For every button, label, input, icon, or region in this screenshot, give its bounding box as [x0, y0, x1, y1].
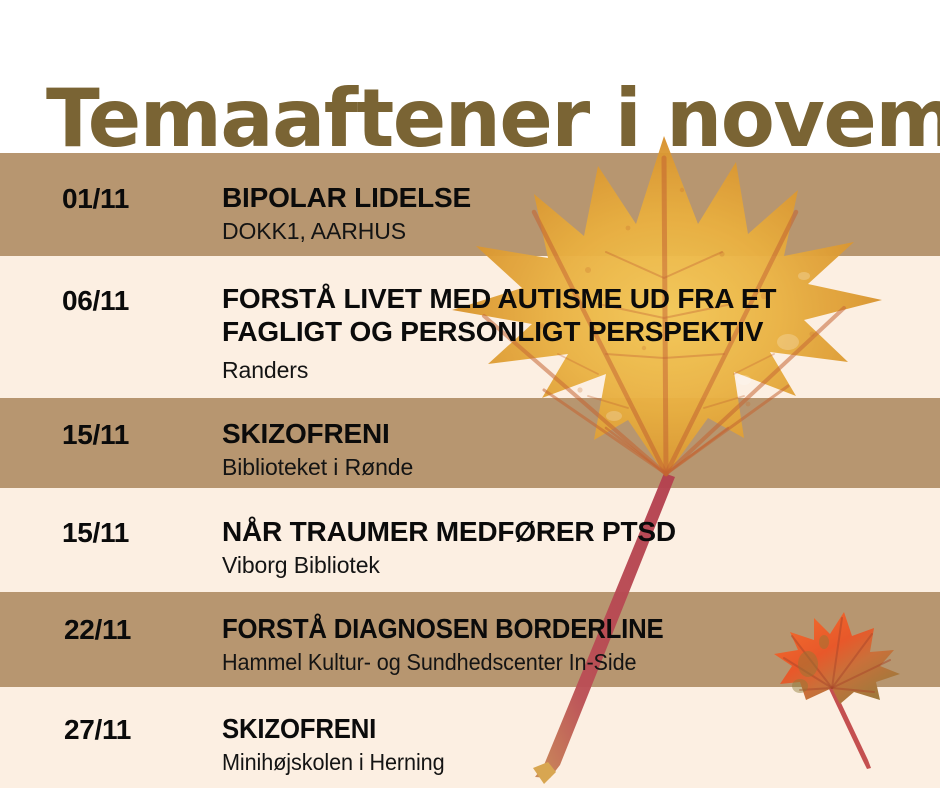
event-date: 06/11	[62, 286, 129, 316]
event-date: 22/11	[64, 615, 131, 645]
event-venue: Hammel Kultur- og Sundhedscenter In-Side	[222, 648, 880, 676]
list-item[interactable]: 15/11 SKIZOFRENI Biblioteket i Rønde	[0, 398, 940, 488]
event-date: 15/11	[62, 518, 129, 548]
event-venue: Biblioteket i Rønde	[222, 453, 922, 481]
event-date: 15/11	[62, 420, 129, 450]
event-title: NÅR TRAUMER MEDFØRER PTSD	[222, 515, 922, 548]
list-item[interactable]: 15/11 NÅR TRAUMER MEDFØRER PTSD Viborg B…	[0, 488, 940, 592]
event-title: SKIZOFRENI	[222, 417, 922, 450]
event-date: 27/11	[64, 715, 131, 745]
event-title: FORSTÅ LIVET MED AUTISME UD FRA ET FAGLI…	[222, 282, 922, 348]
event-title: FORSTÅ DIAGNOSEN BORDERLINE	[222, 612, 866, 645]
event-title: BIPOLAR LIDELSE	[222, 181, 922, 214]
list-item[interactable]: 22/11 FORSTÅ DIAGNOSEN BORDERLINE Hammel…	[0, 592, 940, 687]
content-layer: Temaaftener i november 01/11 BIPOLAR LID…	[0, 0, 940, 788]
event-venue: DOKK1, AARHUS	[222, 217, 922, 245]
page-title: Temaaftener i november	[46, 76, 893, 162]
event-title: SKIZOFRENI	[222, 712, 866, 745]
list-item[interactable]: 27/11 SKIZOFRENI Minihøjskolen i Herning	[0, 687, 940, 788]
event-venue: Minihøjskolen i Herning	[222, 748, 880, 776]
event-list: 01/11 BIPOLAR LIDELSE DOKK1, AARHUS 06/1…	[0, 153, 940, 788]
event-venue: Viborg Bibliotek	[222, 551, 922, 579]
list-item[interactable]: 06/11 FORSTÅ LIVET MED AUTISME UD FRA ET…	[0, 256, 940, 398]
event-date: 01/11	[62, 184, 129, 214]
list-item[interactable]: 01/11 BIPOLAR LIDELSE DOKK1, AARHUS	[0, 153, 940, 256]
event-venue: Randers	[222, 356, 922, 384]
poster-canvas: Temaaftener i november 01/11 BIPOLAR LID…	[0, 0, 940, 788]
